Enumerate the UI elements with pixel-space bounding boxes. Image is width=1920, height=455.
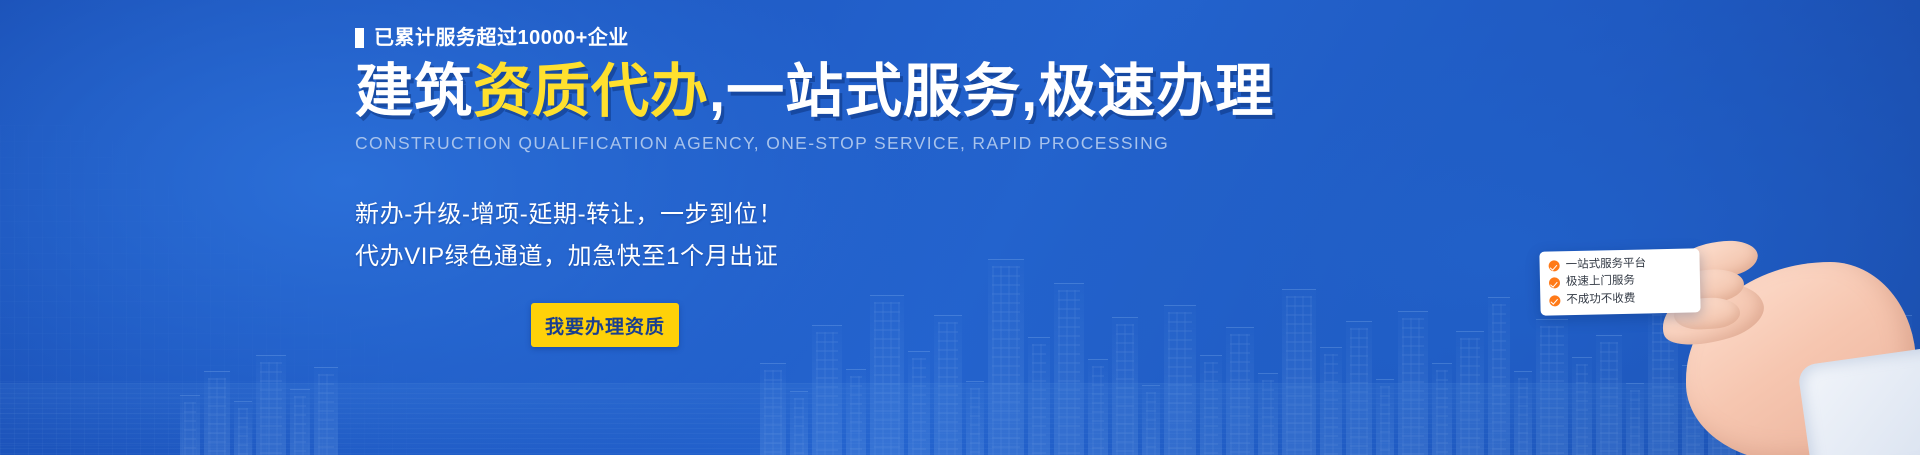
headline-part-1: 建筑	[355, 59, 473, 124]
list-item: 不成功不收费	[1549, 289, 1692, 309]
benefit-label: 一站式服务平台	[1566, 258, 1647, 273]
headline-part-3: ,一站式服务,极速办理	[709, 59, 1274, 124]
check-circle-icon	[1549, 295, 1560, 306]
eyebrow-marker-icon	[355, 28, 364, 48]
eyebrow-text: 已累计服务超过10000+企业	[374, 28, 629, 48]
benefit-label: 不成功不收费	[1566, 292, 1635, 306]
check-circle-icon	[1549, 260, 1560, 271]
banner-content: 已累计服务超过10000+企业 建筑资质代办,一站式服务,极速办理 CONSTR…	[355, 0, 1195, 455]
selling-point-2: 代办VIP绿色通道，加急快至1个月出证	[355, 236, 1195, 278]
hand-illustration-area: 一站式服务平台 极速上门服务 不成功不收费	[1240, 0, 1920, 455]
check-circle-icon	[1549, 278, 1560, 289]
eyebrow-row: 已累计服务超过10000+企业	[355, 28, 1195, 48]
benefit-label: 极速上门服务	[1566, 275, 1635, 289]
headline-part-2-highlight: 资质代办	[473, 59, 709, 124]
hero-banner: 已累计服务超过10000+企业 建筑资质代办,一站式服务,极速办理 CONSTR…	[0, 0, 1920, 455]
apply-qualification-button[interactable]: 我要办理资质	[531, 303, 679, 347]
selling-points: 新办-升级-增项-延期-转让，一步到位！ 代办VIP绿色通道，加急快至1个月出证	[355, 194, 1195, 278]
sleeve-cuff	[1797, 347, 1920, 455]
selling-point-1: 新办-升级-增项-延期-转让，一步到位！	[355, 194, 1195, 236]
page-title: 建筑资质代办,一站式服务,极速办理	[355, 62, 1195, 121]
benefits-card: 一站式服务平台 极速上门服务 不成功不收费	[1539, 248, 1700, 315]
english-subtitle: CONSTRUCTION QUALIFICATION AGENCY, ONE-S…	[355, 133, 1195, 154]
